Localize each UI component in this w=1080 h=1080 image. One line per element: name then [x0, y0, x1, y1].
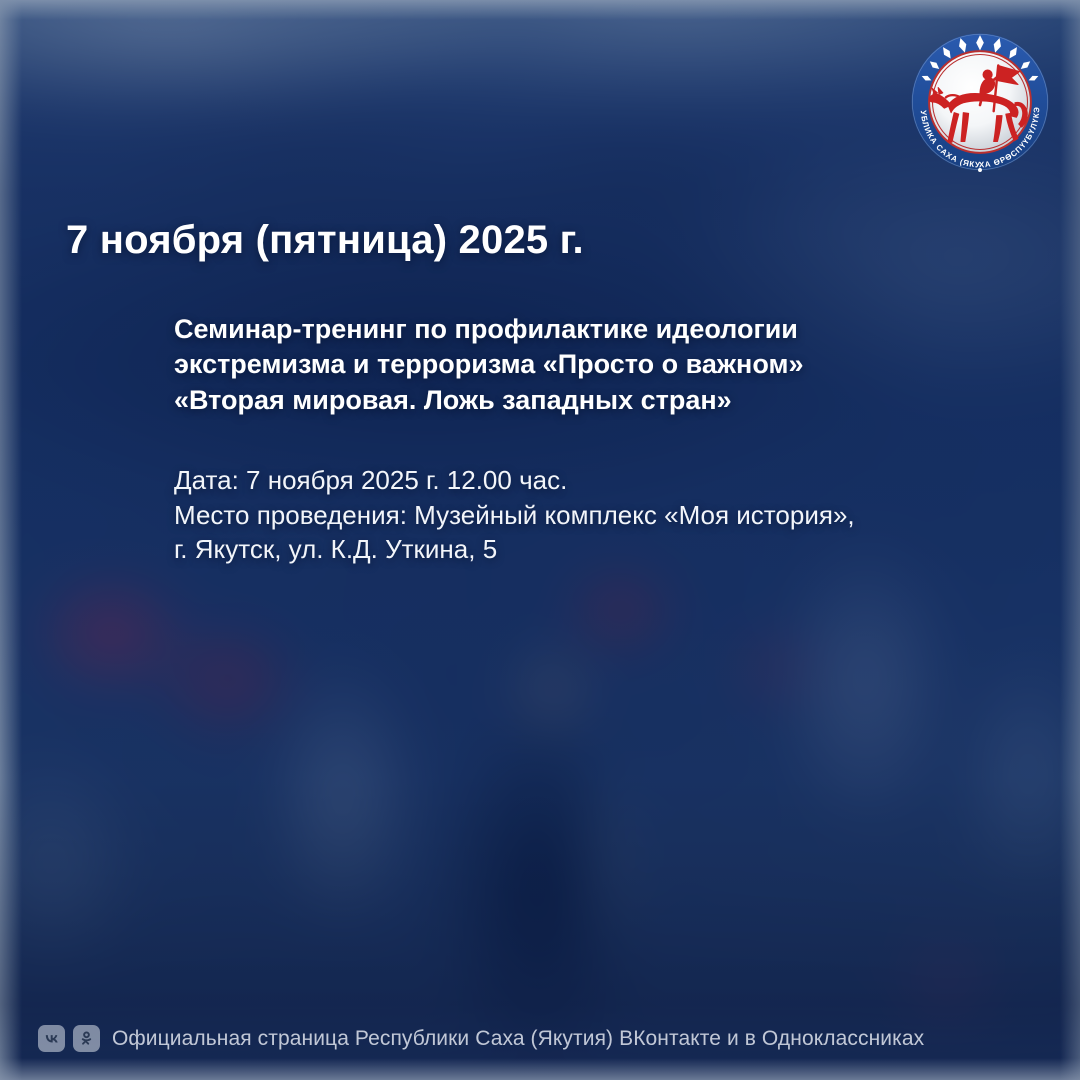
event-detail-address: г. Якутск, ул. К.Д. Уткина, 5	[174, 532, 964, 567]
event-title-line-3: «Вторая мировая. Ложь западных стран»	[174, 383, 964, 418]
coat-of-arms-emblem: РЕСПУБЛИКА САХА (ЯКУТИЯ) САХА ӨРӨСПҮҮБҮЛ…	[904, 26, 1056, 178]
odnoklassniki-icon[interactable]	[73, 1025, 100, 1052]
headline-date: 7 ноября (пятница) 2025 г.	[66, 218, 584, 263]
footer: Официальная страница Республики Саха (Як…	[38, 1025, 924, 1052]
event-details: Дата: 7 ноября 2025 г. 12.00 час. Место …	[174, 463, 964, 567]
event-title-line-1: Семинар-тренинг по профилактике идеологи…	[174, 312, 964, 347]
vk-icon[interactable]	[38, 1025, 65, 1052]
footer-text: Официальная страница Республики Саха (Як…	[112, 1027, 924, 1051]
event-title-line-2: экстремизма и терроризма «Просто о важно…	[174, 347, 964, 382]
content-block: Семинар-тренинг по профилактике идеологи…	[174, 312, 964, 567]
event-detail-date: Дата: 7 ноября 2025 г. 12.00 час.	[174, 463, 964, 498]
event-title: Семинар-тренинг по профилактике идеологи…	[174, 312, 964, 418]
event-poster: РЕСПУБЛИКА САХА (ЯКУТИЯ) САХА ӨРӨСПҮҮБҮЛ…	[0, 0, 1080, 1080]
event-detail-venue: Место проведения: Музейный комплекс «Моя…	[174, 498, 964, 533]
